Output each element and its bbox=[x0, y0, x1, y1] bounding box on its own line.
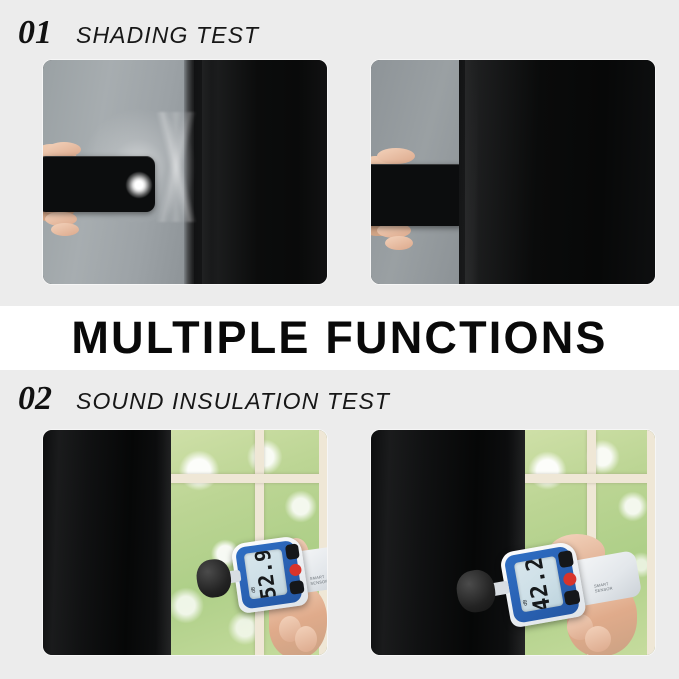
blackout-curtain bbox=[459, 60, 655, 284]
banner-multiple-functions: MULTIPLE FUNCTIONS bbox=[0, 306, 679, 370]
banner-title: MULTIPLE FUNCTIONS bbox=[71, 312, 607, 364]
window-mullion-horizontal bbox=[163, 474, 327, 483]
finger-index bbox=[47, 142, 81, 157]
finger-index bbox=[377, 148, 415, 164]
section-title-01: SHADING TEST bbox=[76, 24, 259, 47]
section-number-02: 02 bbox=[18, 382, 52, 416]
meter-button-function[interactable] bbox=[285, 543, 300, 560]
blackout-curtain bbox=[43, 430, 171, 655]
smartphone bbox=[371, 164, 467, 226]
infographic-page: 01 SHADING TEST bbox=[0, 0, 679, 679]
section-number-01: 01 bbox=[18, 16, 52, 50]
section-title-02: SOUND INSULATION TEST bbox=[76, 390, 390, 413]
window-frame-right bbox=[647, 430, 655, 655]
panel-sound-curtain-blocked: 42.2 dB SMART SENSOR bbox=[371, 430, 655, 655]
meter-button-hold[interactable] bbox=[289, 580, 305, 595]
finger-2 bbox=[295, 626, 317, 652]
section-heading-02: 02 SOUND INSULATION TEST bbox=[18, 382, 390, 416]
meter-unit: dB bbox=[522, 599, 529, 606]
finger-2 bbox=[585, 626, 611, 652]
meter-button-hold[interactable] bbox=[563, 589, 580, 605]
meter-lcd: 52.9 dB bbox=[244, 549, 288, 600]
meter-unit: dB bbox=[250, 587, 257, 594]
finger-little bbox=[51, 223, 79, 236]
finger-little bbox=[385, 236, 413, 250]
panel-shading-torch-on bbox=[43, 60, 327, 284]
meter-lcd: 42.2 dB bbox=[514, 556, 564, 613]
window-mullion-horizontal bbox=[517, 474, 655, 483]
panel-sound-open-window: 52.9 dB SMART SENSOR bbox=[43, 430, 327, 655]
meter-button-function[interactable] bbox=[558, 550, 575, 568]
panel-shading-torch-blocked bbox=[371, 60, 655, 284]
sound-level-meter: 52.9 dB SMART SENSOR bbox=[230, 532, 327, 618]
blackout-curtain bbox=[371, 430, 525, 655]
section-heading-01: 01 SHADING TEST bbox=[18, 16, 259, 50]
flashlight-led bbox=[126, 172, 152, 198]
